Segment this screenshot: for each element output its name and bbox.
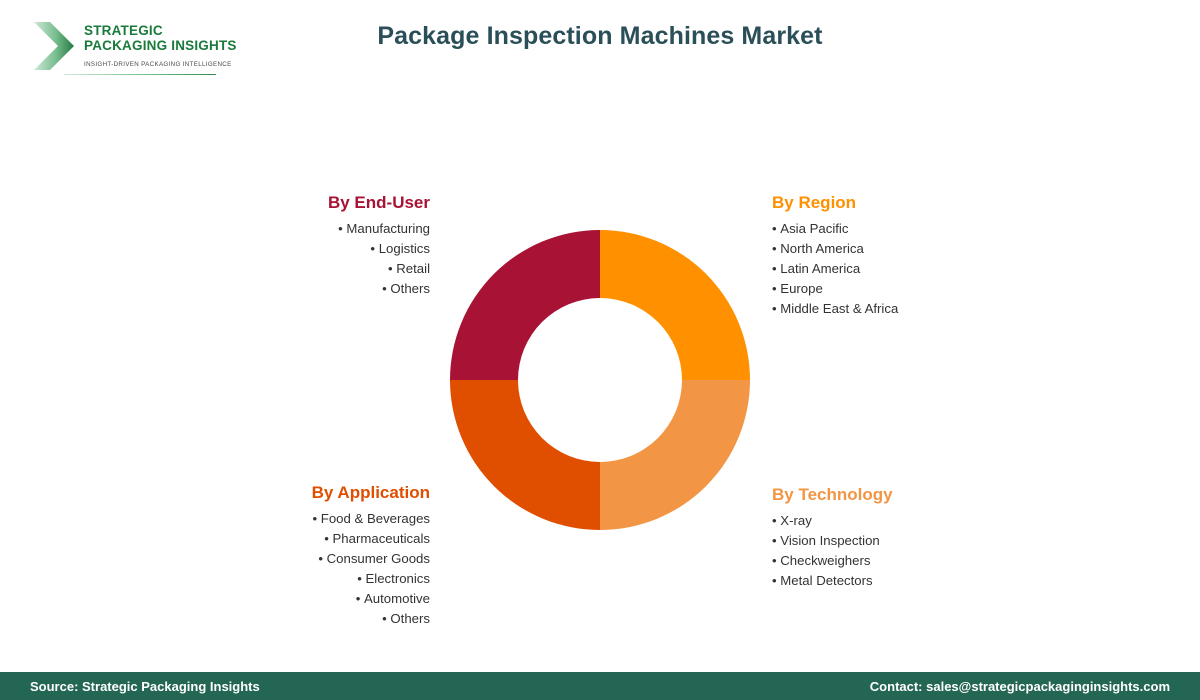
list-item: Others	[180, 609, 430, 629]
list-item: Manufacturing	[180, 219, 430, 239]
category-list-end-user: ManufacturingLogisticsRetailOthers	[180, 219, 430, 299]
footer-source: Source: Strategic Packaging Insights	[30, 679, 260, 694]
list-item: Retail	[180, 259, 430, 279]
category-block-end-user: By End-User ManufacturingLogisticsRetail…	[180, 192, 430, 299]
donut-segment-by-region[interactable]	[600, 230, 750, 380]
donut-segment-by-technology[interactable]	[600, 380, 750, 530]
category-block-region: By Region Asia PacificNorth AmericaLatin…	[772, 192, 1032, 319]
list-item: Europe	[772, 279, 1032, 299]
category-title-application: By Application	[180, 482, 430, 504]
category-list-region: Asia PacificNorth AmericaLatin AmericaEu…	[772, 219, 1032, 319]
page-title: Package Inspection Machines Market	[0, 22, 1200, 51]
infographic-page: STRATEGIC PACKAGING INSIGHTS INSIGHT-DRI…	[0, 0, 1200, 700]
list-item: X-ray	[772, 511, 1032, 531]
list-item: Metal Detectors	[772, 571, 1032, 591]
category-title-region: By Region	[772, 192, 1032, 214]
footer-contact[interactable]: Contact: sales@strategicpackaginginsight…	[870, 679, 1170, 694]
category-title-technology: By Technology	[772, 484, 1032, 506]
list-item: Checkweighers	[772, 551, 1032, 571]
donut-segment-by-application[interactable]	[450, 380, 600, 530]
logo-underline	[64, 74, 216, 75]
list-item: Others	[180, 279, 430, 299]
footer-bar: Source: Strategic Packaging Insights Con…	[0, 672, 1200, 700]
list-item: Pharmaceuticals	[180, 529, 430, 549]
donut-segment-by-end-user[interactable]	[450, 230, 600, 380]
category-block-application: By Application Food & BeveragesPharmaceu…	[180, 482, 430, 629]
donut-chart	[450, 230, 750, 530]
list-item: Automotive	[180, 589, 430, 609]
list-item: Logistics	[180, 239, 430, 259]
donut-chart-svg	[450, 230, 750, 530]
list-item: North America	[772, 239, 1032, 259]
category-list-technology: X-rayVision InspectionCheckweighersMetal…	[772, 511, 1032, 591]
list-item: Middle East & Africa	[772, 299, 1032, 319]
list-item: Vision Inspection	[772, 531, 1032, 551]
list-item: Electronics	[180, 569, 430, 589]
list-item: Asia Pacific	[772, 219, 1032, 239]
list-item: Consumer Goods	[180, 549, 430, 569]
list-item: Food & Beverages	[180, 509, 430, 529]
category-title-end-user: By End-User	[180, 192, 430, 214]
category-block-technology: By Technology X-rayVision InspectionChec…	[772, 484, 1032, 591]
logo-tagline: INSIGHT-DRIVEN PACKAGING INTELLIGENCE	[84, 61, 226, 68]
category-list-application: Food & BeveragesPharmaceuticalsConsumer …	[180, 509, 430, 629]
list-item: Latin America	[772, 259, 1032, 279]
